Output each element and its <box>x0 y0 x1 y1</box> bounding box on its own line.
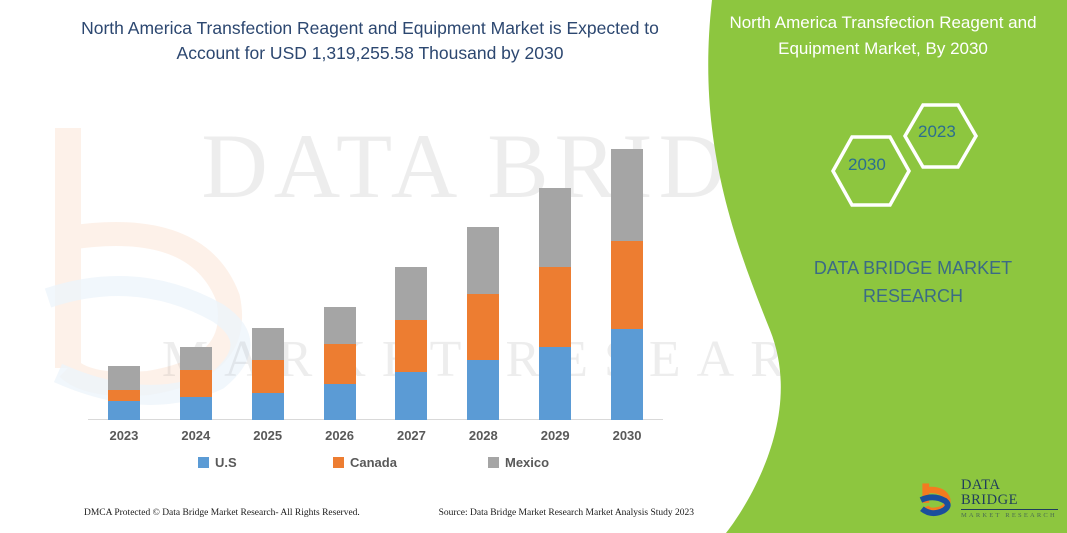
chart-legend: U.SCanadaMexico <box>88 455 588 477</box>
bar-segment <box>611 149 643 240</box>
bar-segment <box>467 294 499 360</box>
logo-sub-text: MARKET RESEARCH <box>961 513 1058 520</box>
legend-item: Mexico <box>488 455 549 470</box>
bar-segment <box>108 390 140 401</box>
x-axis-label: 2030 <box>592 428 662 443</box>
bar-segment <box>252 360 284 393</box>
bar-segment <box>395 372 427 420</box>
x-axis-labels: 20232024202520262027202820292030 <box>88 428 663 448</box>
bar-group <box>539 188 571 420</box>
footer-copyright: DMCA Protected © Data Bridge Market Rese… <box>84 508 360 518</box>
hexagon-group: 2030 2023 <box>790 95 1067 215</box>
bar-segment <box>395 267 427 321</box>
green-panel-title: North America Transfection Reagent and E… <box>718 10 1048 61</box>
legend-swatch <box>198 457 209 468</box>
infographic-root: DATA BRIDGE MARKET RESEARCH North Americ… <box>0 0 1067 533</box>
bar-segment <box>180 397 212 420</box>
bar-segment <box>539 188 571 267</box>
x-axis-label: 2025 <box>233 428 303 443</box>
bar-segment <box>252 393 284 420</box>
bar-group <box>467 227 499 420</box>
x-axis-label: 2028 <box>448 428 518 443</box>
chart-panel: North America Transfection Reagent and E… <box>0 0 720 533</box>
bar-group <box>611 149 643 420</box>
bar-segment <box>539 267 571 348</box>
bar-segment <box>467 360 499 420</box>
x-axis-label: 2024 <box>161 428 231 443</box>
legend-label: Canada <box>350 455 397 470</box>
bar-segment <box>611 241 643 329</box>
logo-main-text: DATA BRIDGE <box>961 478 1058 510</box>
brand-name: DATA BRIDGE MARKET RESEARCH <box>768 255 1058 311</box>
bar-segment <box>395 320 427 372</box>
bar-segment <box>180 347 212 370</box>
bar-segment <box>324 384 356 420</box>
legend-label: Mexico <box>505 455 549 470</box>
brand-line-1: DATA BRIDGE MARKET <box>768 255 1058 283</box>
bar-segment <box>180 370 212 397</box>
bar-segment <box>324 307 356 344</box>
legend-item: Canada <box>333 455 397 470</box>
page-title: North America Transfection Reagent and E… <box>60 16 680 67</box>
legend-item: U.S <box>198 455 237 470</box>
hexagon-shapes-icon <box>790 95 1067 215</box>
company-logo: DATA BRIDGE MARKET RESEARCH <box>918 478 1058 520</box>
x-axis-label: 2027 <box>376 428 446 443</box>
legend-swatch <box>488 457 499 468</box>
hexagon-label-2023: 2023 <box>918 122 956 142</box>
hexagon-label-2030: 2030 <box>848 155 886 175</box>
bar-segment <box>324 344 356 383</box>
footer-source: Source: Data Bridge Market Research Mark… <box>439 508 694 518</box>
x-axis-label: 2026 <box>305 428 375 443</box>
footer: DMCA Protected © Data Bridge Market Rese… <box>84 508 694 518</box>
green-panel-content: North America Transfection Reagent and E… <box>690 0 1067 533</box>
legend-label: U.S <box>215 455 237 470</box>
bar-chart-plot <box>88 140 663 420</box>
bar-segment <box>467 227 499 293</box>
bar-segment <box>108 401 140 420</box>
bar-group <box>252 328 284 420</box>
bar-group <box>108 366 140 420</box>
bar-group <box>395 267 427 420</box>
brand-line-2: RESEARCH <box>768 283 1058 311</box>
data-bridge-b-icon <box>918 481 955 517</box>
bar-group <box>324 307 356 420</box>
x-axis-label: 2023 <box>89 428 159 443</box>
bar-segment <box>539 347 571 420</box>
bar-group <box>180 347 212 420</box>
bar-segment <box>611 329 643 420</box>
bar-segment <box>252 328 284 360</box>
bar-segment <box>108 366 140 390</box>
legend-swatch <box>333 457 344 468</box>
x-axis-label: 2029 <box>520 428 590 443</box>
green-panel: North America Transfection Reagent and E… <box>690 0 1067 533</box>
logo-text: DATA BRIDGE MARKET RESEARCH <box>961 478 1058 520</box>
